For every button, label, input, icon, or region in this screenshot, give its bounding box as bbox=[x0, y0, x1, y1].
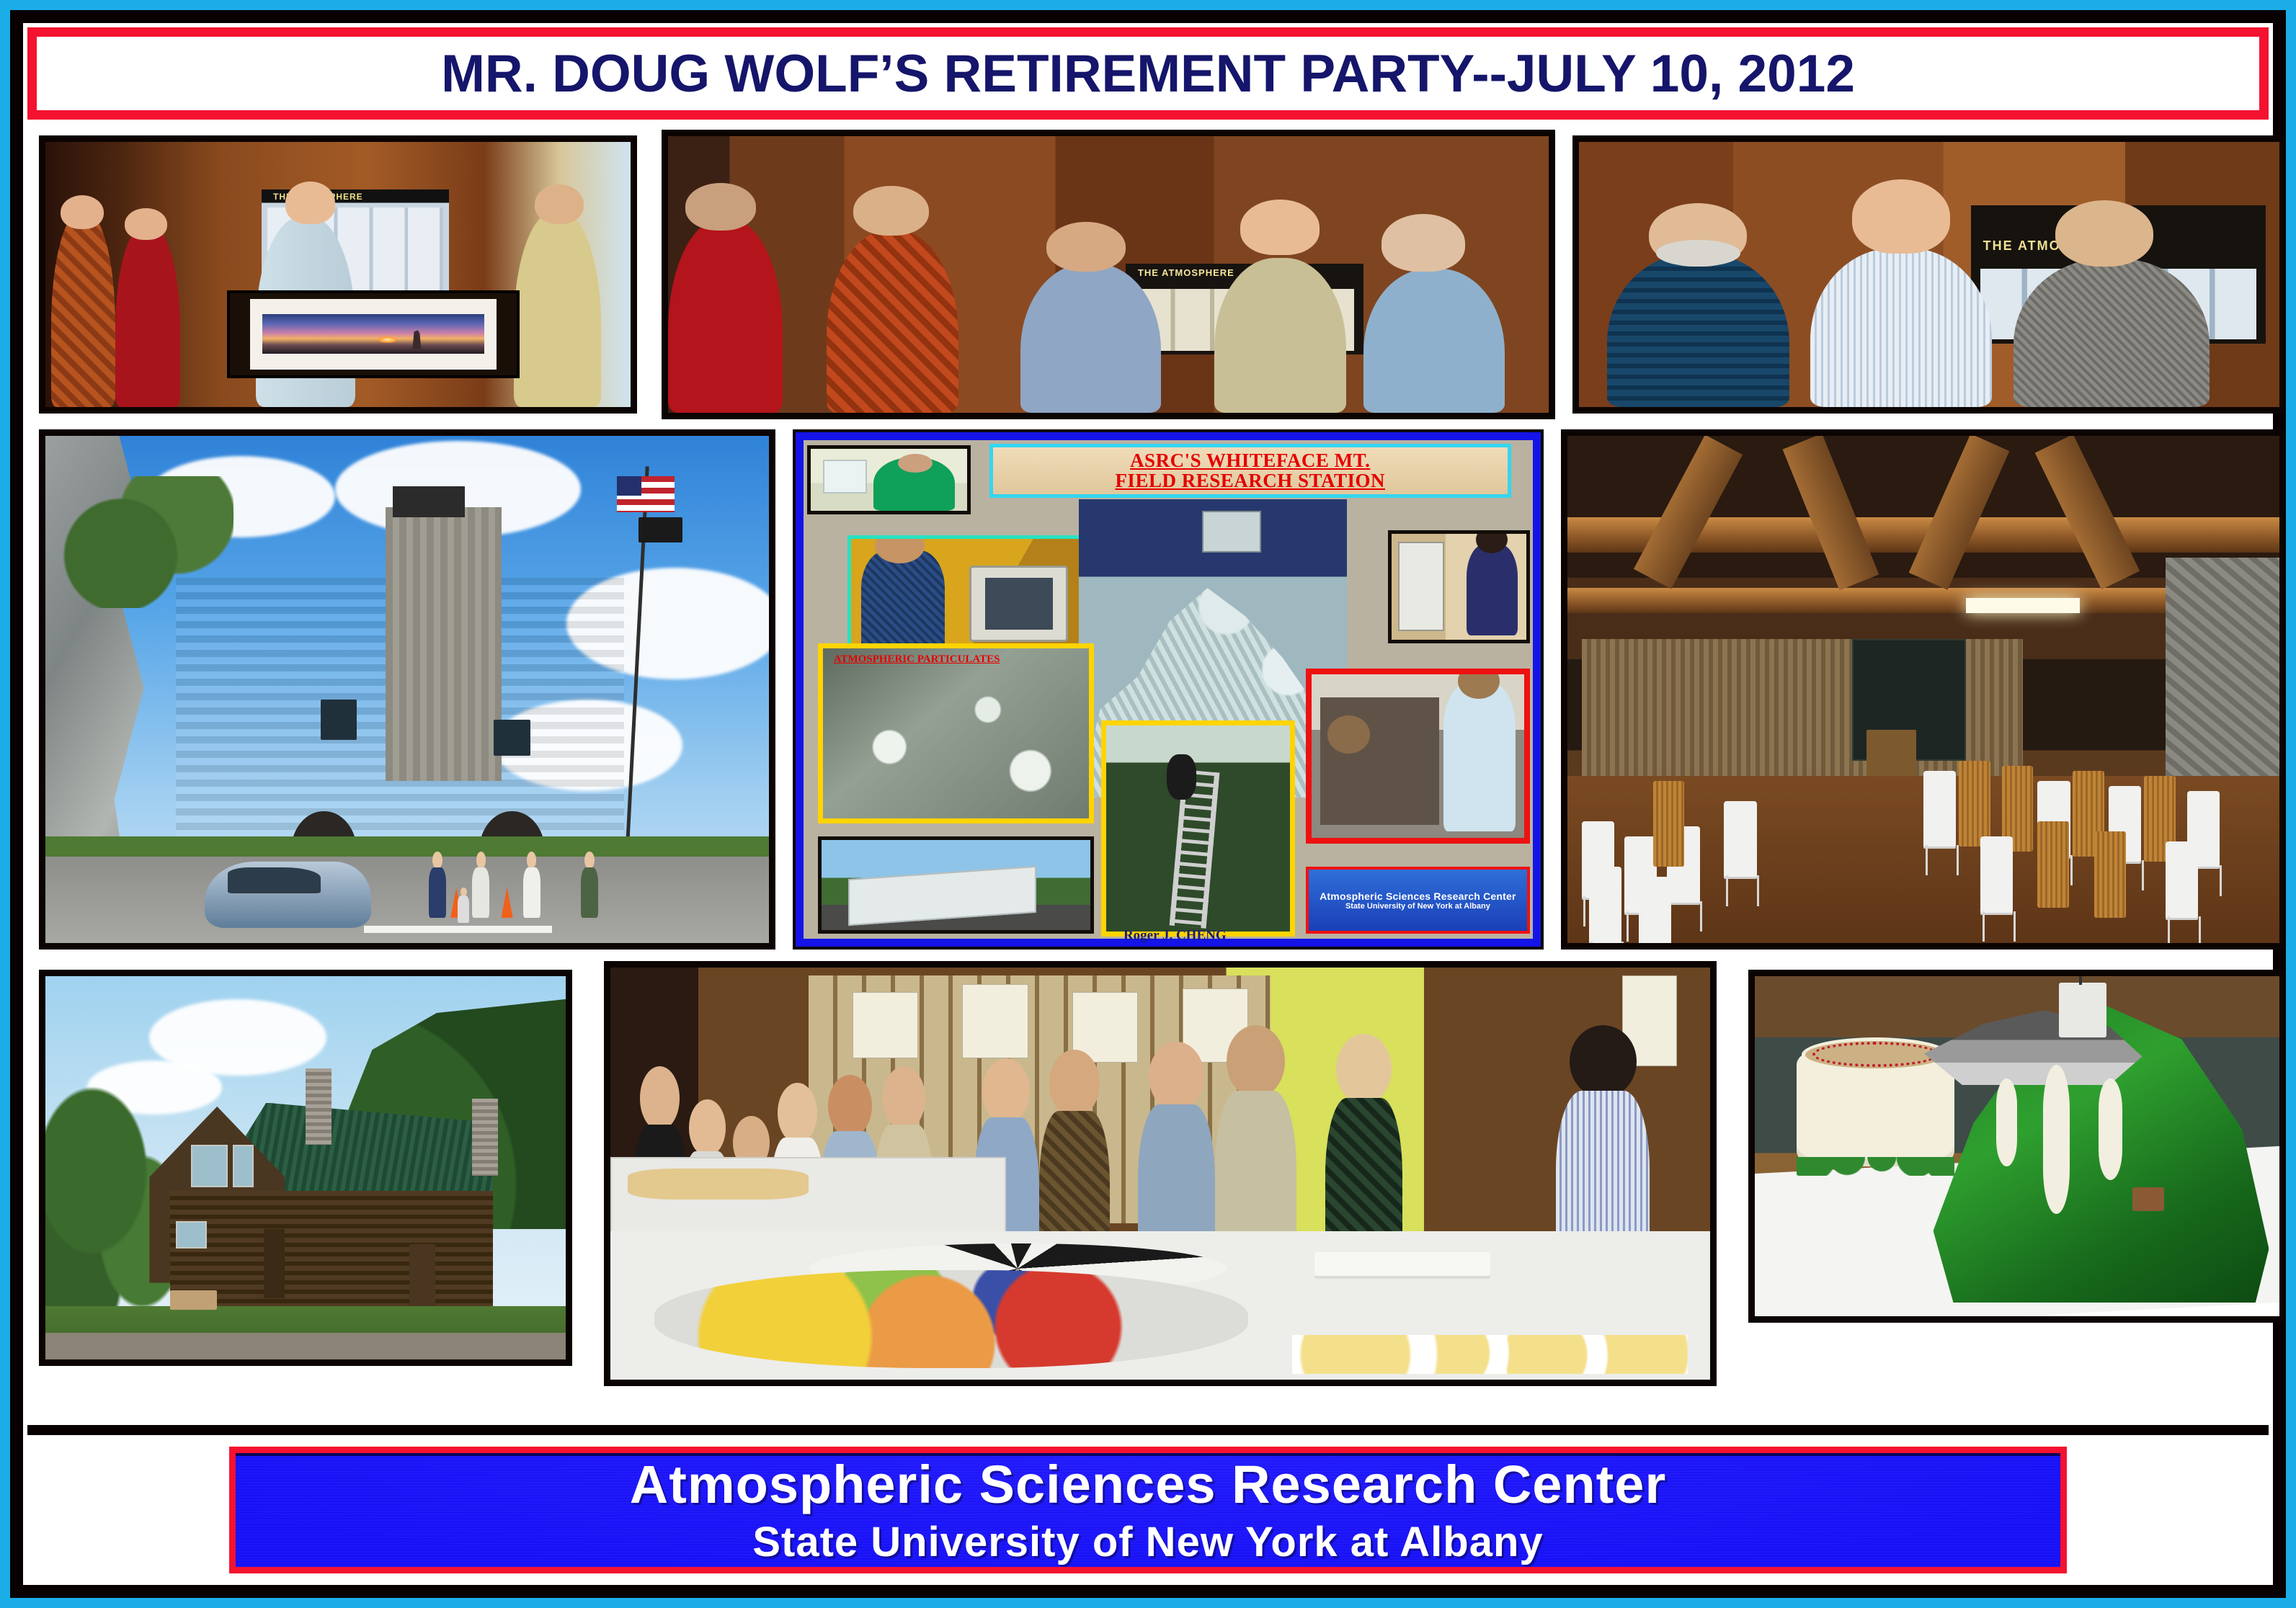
particulates-label: ATMOSPHERIC PARTICULATES bbox=[834, 653, 1000, 666]
asrc-banner: Atmospheric Sciences Research Center Sta… bbox=[229, 1447, 2067, 1573]
person-head bbox=[535, 184, 584, 224]
poster-black-frame: MR. DOUG WOLF’S RETIREMENT PARTY--JULY 1… bbox=[10, 10, 2286, 1598]
cabin-door bbox=[264, 1229, 285, 1298]
roof-rafter bbox=[1783, 436, 1879, 591]
roof-rafter bbox=[1634, 436, 1743, 589]
framed-print bbox=[227, 290, 520, 378]
asrc-mini-banner: Atmospheric Sciences Research Center Sta… bbox=[1306, 867, 1529, 934]
asrc-poster-title-line2: FIELD RESEARCH STATION bbox=[1115, 470, 1385, 491]
person-head bbox=[1240, 200, 1320, 255]
person-figure bbox=[1810, 248, 1993, 407]
person-head bbox=[1852, 179, 1950, 254]
photo-lodge-interior-image bbox=[1567, 436, 2279, 943]
poster-photo-rooftop-sampler bbox=[818, 836, 1094, 934]
fluorescent-light bbox=[1966, 598, 2080, 613]
poster-photo-rime-researcher bbox=[807, 445, 971, 514]
folding-chair bbox=[1639, 877, 1671, 943]
parked-car bbox=[205, 862, 371, 928]
photo-award-presentation[interactable]: THE ATMOSPHERE bbox=[39, 135, 637, 414]
cabin-window bbox=[233, 1145, 254, 1187]
photo-group-conversation-image: THE ATMOSPHERE bbox=[668, 136, 1549, 413]
person-head bbox=[685, 183, 756, 230]
photo-award-presentation-image: THE ATMOSPHERE bbox=[45, 142, 631, 407]
poster-photo-instrument-rack bbox=[1388, 530, 1529, 643]
folding-chair bbox=[2166, 841, 2198, 918]
window bbox=[494, 720, 530, 755]
person-head bbox=[285, 182, 335, 224]
person-head bbox=[1381, 214, 1465, 272]
person-figure bbox=[1607, 254, 1789, 407]
instrument-rack bbox=[1398, 542, 1443, 631]
person-figure bbox=[827, 231, 958, 413]
poster-inner: MR. DOUG WOLF’S RETIREMENT PARTY--JULY 1… bbox=[23, 23, 2273, 1585]
wooden-chair bbox=[2037, 821, 2068, 908]
roof-rafter bbox=[1908, 436, 2009, 590]
person-head bbox=[853, 186, 929, 236]
summit-tower-decoration bbox=[2059, 983, 2106, 1037]
poster-photo-particulates-sem: ATMOSPHERIC PARTICULATES bbox=[818, 643, 1094, 823]
poster-credit: Roger J. CHENG bbox=[1123, 928, 1227, 944]
asrc-banner-line1: Atmospheric Sciences Research Center bbox=[630, 1454, 1667, 1515]
person-head bbox=[61, 195, 104, 230]
person-head bbox=[898, 454, 933, 473]
person-figure bbox=[1443, 684, 1516, 831]
us-flag bbox=[617, 476, 675, 512]
photo-grid: THE ATMOSPHERE bbox=[27, 120, 2269, 1425]
cabin-door bbox=[409, 1244, 435, 1305]
podium bbox=[1866, 730, 1916, 775]
photo-three-colleagues-image: THE ATMOSPHERE bbox=[1579, 142, 2279, 407]
person-figure bbox=[1214, 258, 1346, 413]
sampler-structure bbox=[848, 866, 1036, 926]
folding-chair bbox=[1923, 771, 1956, 847]
buffet-table bbox=[610, 1231, 1710, 1380]
butte-silhouette bbox=[409, 330, 424, 349]
climbing-technician bbox=[1167, 754, 1196, 800]
lodge-decoration bbox=[2132, 1187, 2164, 1211]
pedestrian bbox=[429, 852, 446, 918]
stone-fireplace-wall bbox=[2166, 558, 2279, 801]
person-figure bbox=[115, 224, 179, 407]
roof-rafter bbox=[2034, 436, 2140, 589]
section-divider bbox=[27, 1425, 2269, 1435]
ski-trail bbox=[2099, 1078, 2122, 1181]
napkin-stack bbox=[1314, 1252, 1490, 1276]
tower-roof bbox=[393, 486, 465, 517]
castle-tower bbox=[386, 507, 502, 781]
cabin-window bbox=[176, 1221, 207, 1248]
photo-lodge-interior[interactable] bbox=[1561, 429, 2286, 950]
crt-monitor bbox=[969, 566, 1068, 642]
cloud-chamber-apparatus bbox=[1320, 697, 1439, 825]
title-banner: MR. DOUG WOLF’S RETIREMENT PARTY--JULY 1… bbox=[27, 27, 2269, 120]
gravel-path bbox=[45, 1333, 566, 1359]
cabin-log-wall bbox=[170, 1191, 493, 1306]
person-head bbox=[1046, 222, 1126, 272]
print-mat bbox=[250, 299, 497, 370]
photo-asrc-whiteface-poster[interactable]: ASRC'S WHITEFACE MT. FIELD RESEARCH STAT… bbox=[793, 429, 1544, 950]
folding-chair bbox=[1980, 836, 2013, 913]
atmosphere-poster-title: THE ATMOSPHERE bbox=[1138, 267, 1234, 278]
photo-buffet-collage[interactable] bbox=[604, 961, 1717, 1386]
photo-whiteface-castle[interactable] bbox=[39, 429, 775, 950]
photo-field-station-cabin-image bbox=[45, 976, 566, 1359]
folding-chair bbox=[1589, 867, 1621, 943]
footer-area: Atmospheric Sciences Research Center Sta… bbox=[27, 1435, 2269, 1585]
cake-base-piping bbox=[1797, 1157, 1954, 1176]
posted-document bbox=[962, 984, 1028, 1058]
road-marking bbox=[364, 926, 552, 933]
ski-trail bbox=[1996, 1078, 2017, 1167]
cabin-window bbox=[191, 1145, 228, 1187]
beard bbox=[1656, 240, 1740, 267]
rime-instrument bbox=[823, 460, 867, 493]
asrc-poster-title-box: ASRC'S WHITEFACE MT. FIELD RESEARCH STAT… bbox=[989, 444, 1511, 498]
photo-field-station-cabin[interactable] bbox=[39, 970, 572, 1366]
person-figure bbox=[668, 219, 783, 413]
pedestrian bbox=[581, 852, 598, 918]
asrc-banner-line2: State University of New York at Albany bbox=[752, 1518, 1543, 1566]
picnic-table bbox=[170, 1290, 217, 1310]
person-figure bbox=[1363, 269, 1505, 413]
pedestrian bbox=[472, 852, 489, 918]
wooden-chair bbox=[2094, 831, 2125, 918]
person-head bbox=[2055, 200, 2153, 267]
photo-group-conversation[interactable]: THE ATMOSPHERE bbox=[662, 130, 1555, 419]
window bbox=[321, 700, 357, 740]
poster-photo-ladder-climber bbox=[1101, 720, 1295, 937]
person-figure bbox=[514, 211, 602, 407]
pedestrian-child bbox=[458, 888, 469, 923]
deviled-eggs-tray bbox=[1292, 1335, 1688, 1374]
photo-three-colleagues[interactable]: THE ATMOSPHERE bbox=[1572, 135, 2286, 414]
folding-chair bbox=[1724, 801, 1756, 877]
summit-observatory bbox=[1202, 511, 1261, 553]
asrc-mini-banner-line1: Atmospheric Sciences Research Center bbox=[1320, 890, 1516, 902]
round-retirement-cake bbox=[1797, 1051, 1954, 1166]
wooden-chair bbox=[1959, 761, 1990, 847]
person-figure bbox=[1467, 544, 1518, 635]
asrc-poster-title-line1: ASRC'S WHITEFACE MT. bbox=[1130, 450, 1370, 470]
photo-buffet-collage-image bbox=[610, 968, 1710, 1380]
wooden-chair bbox=[1653, 781, 1684, 867]
person-head bbox=[125, 208, 166, 240]
asrc-mini-banner-line2: State University of New York at Albany bbox=[1345, 902, 1490, 911]
asrc-poster-board: ASRC'S WHITEFACE MT. FIELD RESEARCH STAT… bbox=[796, 432, 1541, 947]
photo-cakes[interactable] bbox=[1748, 970, 2286, 1323]
page-title: MR. DOUG WOLF’S RETIREMENT PARTY--JULY 1… bbox=[441, 48, 1855, 100]
sun-glow bbox=[378, 336, 398, 343]
posted-document bbox=[853, 992, 919, 1058]
stone-chimney bbox=[472, 1099, 498, 1175]
photo-cakes-image bbox=[1755, 976, 2279, 1316]
fruit-platter bbox=[654, 1270, 1248, 1368]
cake-border-piping bbox=[1812, 1042, 1939, 1067]
stone-chimney bbox=[306, 1068, 332, 1145]
person-figure bbox=[51, 211, 115, 407]
panoramic-photo bbox=[262, 314, 484, 354]
poster-photo-cloud-chamber bbox=[1306, 669, 1529, 844]
pow-mia-flag bbox=[638, 517, 682, 542]
person-figure bbox=[2014, 259, 2210, 407]
pedestrian bbox=[523, 852, 540, 918]
ski-trail bbox=[2043, 1065, 2069, 1215]
photo-whiteface-castle-image bbox=[45, 436, 769, 943]
poster-root: MR. DOUG WOLF’S RETIREMENT PARTY--JULY 1… bbox=[0, 0, 2296, 1608]
